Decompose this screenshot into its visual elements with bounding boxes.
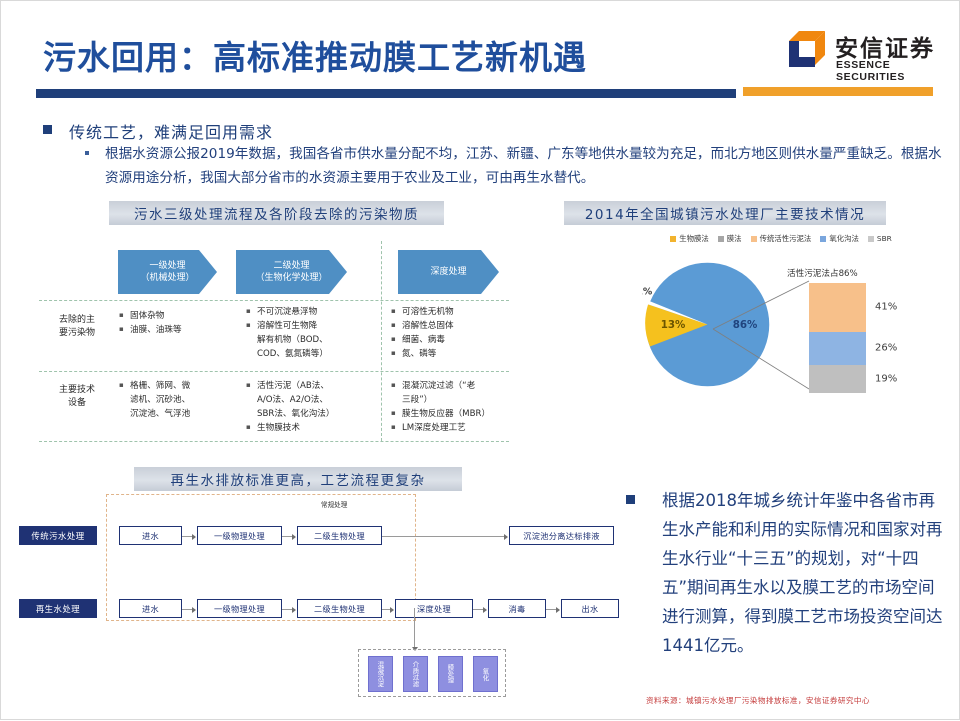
source-note: 资料来源：城镇污水处理厂污染物排放标准，安信证券研究中心 bbox=[646, 695, 870, 706]
stack-value-0: 41% bbox=[875, 302, 897, 313]
callout-leader-lines bbox=[701, 263, 821, 395]
list-item: 活性污泥（AB法、 bbox=[246, 380, 378, 393]
row-label-equipment: 主要技术 设备 bbox=[41, 384, 113, 410]
legend-item-3: 氧化沟法 bbox=[820, 233, 859, 244]
divider-horizontal-dashed-3 bbox=[39, 441, 509, 442]
list-item: 膜生物反应器（MBR） bbox=[391, 408, 511, 421]
node-disinfection: 消毒 bbox=[488, 599, 546, 618]
pie-label-1: 1% bbox=[642, 287, 653, 298]
stack-segment-1: 26% bbox=[809, 332, 866, 365]
brand-logo: 安信证券 ESSENCE SECURITIES bbox=[787, 29, 947, 81]
legend-swatch bbox=[751, 236, 757, 242]
logo-name-cn: 安信证券 bbox=[835, 29, 935, 63]
list-item-cont: COD、氨氮磷等） bbox=[246, 348, 374, 361]
list-item: 格栅、筛网、微 bbox=[119, 380, 231, 393]
essence-logo-icon bbox=[787, 29, 827, 69]
legend-swatch bbox=[820, 236, 826, 242]
node-secondary-bio-1: 二级生物处理 bbox=[297, 526, 382, 545]
legend-swatch bbox=[718, 236, 724, 242]
pie-legend: 生物膜法 膜法 传统活性污泥法 氧化沟法 SBR bbox=[625, 233, 937, 244]
node-inflow-2: 进水 bbox=[119, 599, 182, 618]
list-item: 氮、磷等 bbox=[391, 348, 509, 361]
legend-label: 传统活性污泥法 bbox=[760, 233, 812, 244]
stage-label-line2: （机械处理） bbox=[140, 272, 194, 284]
legend-swatch bbox=[670, 236, 676, 242]
advanced-steps-group: 混凝沉淀 介质过滤 膜处理 氧化 bbox=[358, 649, 506, 697]
slide-header: 污水回用：高标准推动膜工艺新机遇 安信证券 ESSENCE SECURITIES bbox=[1, 1, 960, 103]
divider-horizontal-dashed-2 bbox=[39, 371, 509, 372]
stage-chevron-advanced: 深度处理 bbox=[398, 250, 499, 294]
cell-pollutants-primary: 固体杂物 油膜、油珠等 bbox=[119, 310, 229, 338]
list-item-cont: A/O法、A2/O法、 bbox=[246, 394, 378, 407]
advanced-step-media-filtration: 介质过滤 bbox=[403, 656, 428, 692]
bullet-marker-level2 bbox=[85, 151, 89, 155]
stage-label-line2: （生物化学处理） bbox=[255, 272, 327, 284]
chart-banner: 2014年全国城镇污水处理厂主要技术情况 bbox=[564, 201, 886, 225]
advanced-step-oxidation: 氧化 bbox=[473, 656, 498, 692]
row-label-pollutants: 去除的主 要污染物 bbox=[41, 314, 113, 340]
stage-label-line1: 二级处理 bbox=[273, 260, 309, 272]
list-item: 油膜、油珠等 bbox=[119, 324, 229, 337]
cell-equipment-secondary: 活性污泥（AB法、 A/O法、A2/O法、 SBR法、氧化沟法） 生物膜技术 bbox=[246, 380, 378, 436]
connector-1a bbox=[182, 536, 195, 537]
legend-label: 膜法 bbox=[727, 233, 742, 244]
legend-item-4: SBR bbox=[868, 234, 892, 243]
list-item: 细菌、病毒 bbox=[391, 334, 509, 347]
stage-label-line1: 深度处理 bbox=[430, 266, 466, 278]
list-item: LM深度处理工艺 bbox=[391, 422, 511, 435]
stage-chevron-secondary: 二级处理 （生物化学处理） bbox=[236, 250, 347, 294]
connector-1b bbox=[282, 536, 295, 537]
stack-value-1: 26% bbox=[875, 343, 897, 354]
list-item-cont: 沉淀池、气浮池 bbox=[119, 408, 231, 421]
legend-item-0: 生物膜法 bbox=[670, 233, 709, 244]
connector-2e bbox=[546, 609, 559, 610]
divider-horizontal-dashed-1 bbox=[39, 300, 509, 301]
stacked-bar-chart: 41% 26% 19% bbox=[809, 283, 866, 393]
logo-name-en: ESSENCE SECURITIES bbox=[836, 59, 947, 83]
pie-label-13: 13% bbox=[661, 319, 686, 331]
connector-2d bbox=[473, 609, 486, 610]
node-sedimentation-discharge: 沉淀池分离达标排液 bbox=[509, 526, 614, 545]
list-item-cont: 滤机、沉砂池、 bbox=[119, 394, 231, 407]
group-label: 常规处理 bbox=[321, 499, 347, 509]
list-item: 溶解性总固体 bbox=[391, 320, 509, 333]
list-item-cont: 解有机物（BOD、 bbox=[246, 334, 374, 347]
connector-advanced-stem bbox=[414, 608, 415, 650]
list-item: 混凝沉淀过滤（“老 bbox=[391, 380, 511, 393]
list-item: 溶解性可生物降 bbox=[246, 320, 374, 333]
bullet-marker-level1 bbox=[43, 125, 52, 134]
row-tag-conventional: 传统污水处理 bbox=[19, 526, 97, 545]
list-item: 生物膜技术 bbox=[246, 422, 378, 435]
cell-equipment-primary: 格栅、筛网、微 滤机、沉砂池、 沉淀池、气浮池 bbox=[119, 380, 231, 422]
bottom-flow-diagram: 常规处理 传统污水处理 进水 一级物理处理 二级生物处理 沉淀池分离达标排液 再… bbox=[1, 486, 641, 721]
intro-body: 根据水资源公报2019年数据，我国各省市供水量分配不均，江苏、新疆、广东等地供水… bbox=[105, 142, 945, 190]
cell-equipment-advanced: 混凝沉淀过滤（“老 三段”） 膜生物反应器（MBR） LM深度处理工艺 bbox=[391, 380, 511, 436]
node-outflow: 出水 bbox=[561, 599, 619, 618]
row-label-line2: 设备 bbox=[41, 397, 113, 410]
divider-vertical-dashed bbox=[381, 241, 382, 441]
legend-swatch bbox=[868, 236, 874, 242]
connector-2a bbox=[182, 609, 195, 610]
stage-label-line1: 一级处理 bbox=[149, 260, 185, 272]
row-label-line1: 去除的主 bbox=[41, 314, 113, 327]
legend-item-2: 传统活性污泥法 bbox=[751, 233, 812, 244]
callout-label: 活性污泥法占86% bbox=[787, 267, 858, 279]
node-advanced-treatment: 深度处理 bbox=[395, 599, 473, 618]
cell-pollutants-advanced: 可溶性无机物 溶解性总固体 细菌、病毒 氮、磷等 bbox=[391, 306, 509, 362]
node-primary-physical-2: 一级物理处理 bbox=[197, 599, 282, 618]
stack-segment-0: 41% bbox=[809, 283, 866, 332]
connector-2b bbox=[282, 609, 295, 610]
node-secondary-bio-2: 二级生物处理 bbox=[297, 599, 382, 618]
cell-pollutants-secondary: 不可沉淀悬浮物 溶解性可生物降 解有机物（BOD、 COD、氨氮磷等） bbox=[246, 306, 374, 362]
title-rule-blue bbox=[36, 89, 736, 98]
row-label-line1: 主要技术 bbox=[41, 384, 113, 397]
list-item-cont: SBR法、氧化沟法） bbox=[246, 408, 378, 421]
right-paragraph: 根据2018年城乡统计年鉴中各省市再生水产能和利用的实际情况和国家对再生水行业“… bbox=[662, 486, 950, 660]
legend-label: SBR bbox=[877, 234, 892, 243]
stack-value-2: 19% bbox=[875, 374, 897, 385]
advanced-step-coagulation: 混凝沉淀 bbox=[368, 656, 393, 692]
list-item: 可溶性无机物 bbox=[391, 306, 509, 319]
bullet-marker-right bbox=[626, 495, 635, 504]
list-item: 固体杂物 bbox=[119, 310, 229, 323]
page-title: 污水回用：高标准推动膜工艺新机遇 bbox=[43, 31, 587, 79]
node-primary-physical-1: 一级物理处理 bbox=[197, 526, 282, 545]
connector-2c bbox=[382, 609, 393, 610]
list-item-cont: 三段”） bbox=[391, 394, 511, 407]
row-tag-reclaimed: 再生水处理 bbox=[19, 599, 97, 618]
stage-chevron-primary: 一级处理 （机械处理） bbox=[118, 250, 217, 294]
legend-label: 生物膜法 bbox=[679, 233, 709, 244]
list-item: 不可沉淀悬浮物 bbox=[246, 306, 374, 319]
intro-heading: 传统工艺，难满足回用需求 bbox=[69, 119, 273, 143]
stack-segment-2: 19% bbox=[809, 365, 866, 393]
row-label-line2: 要污染物 bbox=[41, 327, 113, 340]
legend-label: 氧化沟法 bbox=[829, 233, 859, 244]
connector-1c bbox=[382, 536, 507, 537]
left-panel-banner: 污水三级处理流程及各阶段去除的污染物质 bbox=[109, 201, 444, 225]
node-inflow-1: 进水 bbox=[119, 526, 182, 545]
legend-item-1: 膜法 bbox=[718, 233, 742, 244]
advanced-step-membrane: 膜处理 bbox=[438, 656, 463, 692]
title-rule-orange bbox=[743, 87, 933, 96]
